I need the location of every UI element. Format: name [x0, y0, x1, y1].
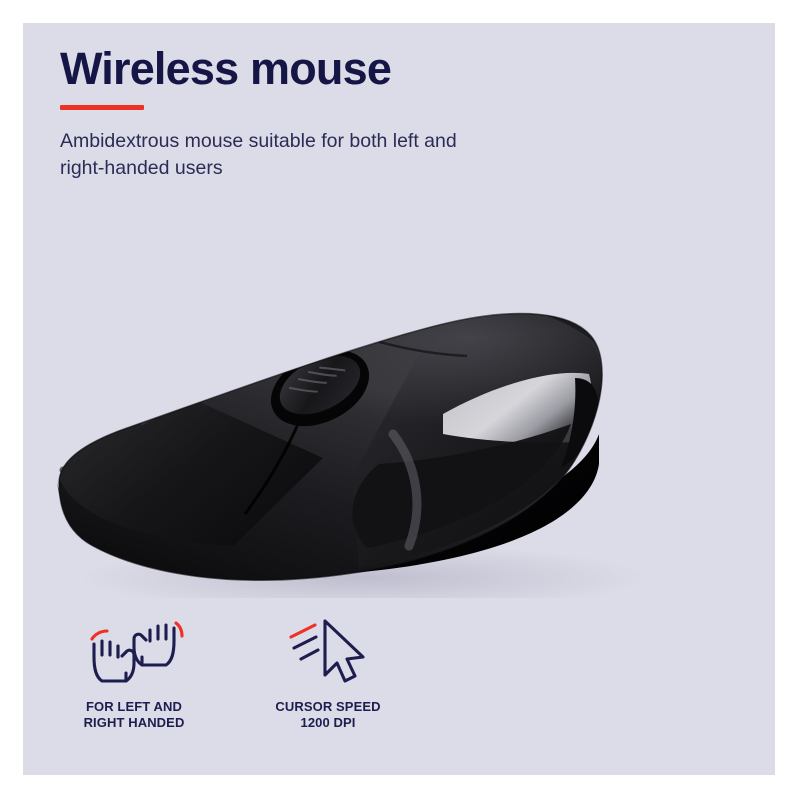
wireless-mouse-illustration — [23, 228, 775, 598]
page-title: Wireless mouse — [60, 45, 660, 92]
cursor-speed-icon — [285, 615, 371, 687]
feature-item-cursor-speed: CURSOR SPEED 1200 DPI — [253, 615, 403, 732]
feature-list: FOR LEFT AND RIGHT HANDED CURSOR SPEED 1… — [59, 615, 403, 732]
left-hand-motion-arc — [92, 631, 107, 639]
two-hands-icon — [82, 615, 186, 687]
product-image — [23, 228, 775, 598]
right-hand-icon — [134, 625, 174, 665]
cursor-motion-line-2 — [301, 650, 318, 659]
product-banner: Wireless mouse Ambidextrous mouse suitab… — [23, 23, 775, 775]
page-subtitle: Ambidextrous mouse suitable for both lef… — [60, 128, 490, 182]
cursor-arrow-icon — [325, 621, 363, 681]
header: Wireless mouse Ambidextrous mouse suitab… — [60, 45, 660, 182]
left-hand-icon — [94, 641, 134, 681]
cursor-motion-line-red — [291, 625, 315, 637]
feature-label-cursor-speed: CURSOR SPEED 1200 DPI — [275, 699, 380, 732]
feature-item-ambidextrous: FOR LEFT AND RIGHT HANDED — [59, 615, 209, 732]
accent-underline — [60, 105, 144, 110]
cursor-motion-line-1 — [294, 637, 316, 648]
feature-label-ambidextrous: FOR LEFT AND RIGHT HANDED — [84, 699, 185, 732]
mouse-shell — [23, 288, 775, 598]
right-hand-motion-arc — [176, 623, 182, 636]
